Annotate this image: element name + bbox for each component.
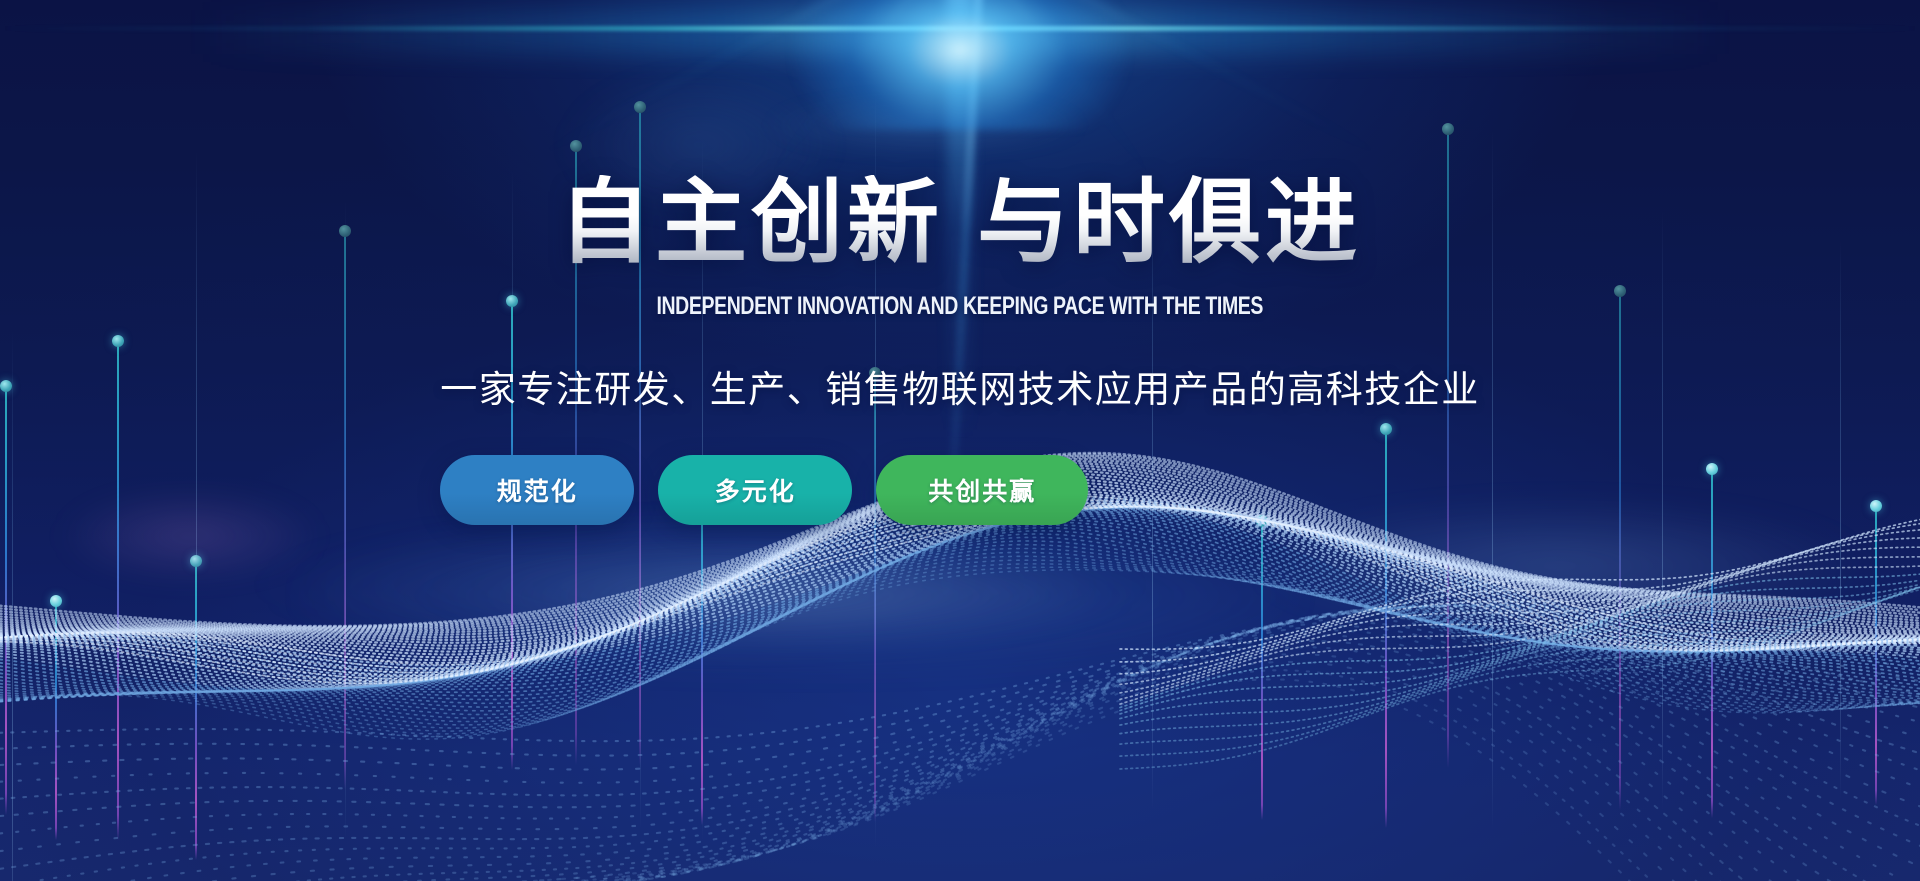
- tagline-pill-label: 规范化: [497, 472, 578, 508]
- tagline-pill-3[interactable]: 共创共赢: [876, 455, 1088, 525]
- page-title-left: 自主创新: [559, 169, 943, 276]
- hero-banner: 自主创新与时俱进 INDEPENDENT INNOVATION AND KEEP…: [0, 0, 1920, 881]
- title-block: 自主创新与时俱进 INDEPENDENT INNOVATION AND KEEP…: [440, 175, 1480, 525]
- page-title: 自主创新与时俱进: [440, 175, 1480, 272]
- tagline-pill-row: 规范化多元化共创共赢: [440, 455, 1480, 525]
- tagline-pill-label: 共创共赢: [928, 472, 1036, 508]
- subtitle-chinese: 一家专注研发、生产、销售物联网技术应用产品的高科技企业: [440, 359, 1480, 413]
- subtitle-english: INDEPENDENT INNOVATION AND KEEPING PACE …: [555, 292, 1366, 321]
- tagline-pill-1[interactable]: 规范化: [440, 455, 634, 525]
- tagline-pill-label: 多元化: [715, 472, 796, 508]
- tagline-pill-2[interactable]: 多元化: [658, 455, 852, 525]
- banner-content: 自主创新与时俱进 INDEPENDENT INNOVATION AND KEEP…: [0, 0, 1920, 881]
- page-title-right: 与时俱进: [977, 169, 1361, 276]
